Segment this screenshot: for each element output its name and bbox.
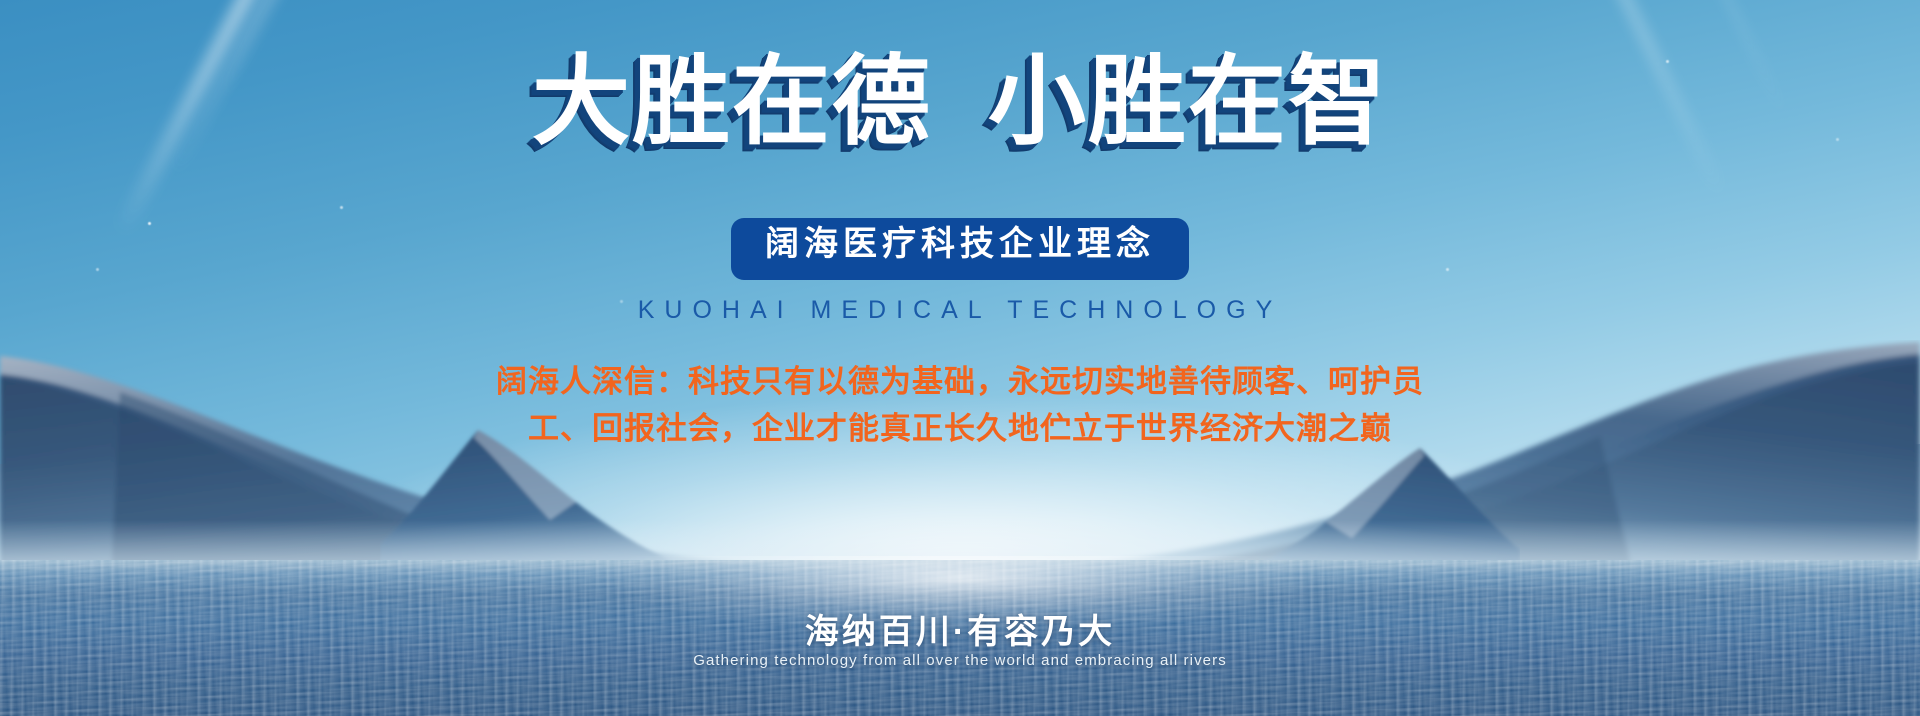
headline-part-1: 大胜在德 <box>532 46 932 156</box>
headline-part-2: 小胜在智 <box>988 46 1388 156</box>
banner-content: 大胜在德小胜在智 阔海医疗科技企业理念 KUOHAI MEDICAL TECHN… <box>0 0 1920 716</box>
hero-banner: 大胜在德小胜在智 阔海医疗科技企业理念 KUOHAI MEDICAL TECHN… <box>0 0 1920 716</box>
footer-chinese-motto: 海纳百川·有容乃大 <box>0 604 1920 653</box>
slogan-block: 阔海人深信：科技只有以德为基础，永远切实地善待顾客、呵护员 工、回报社会，企业才… <box>430 358 1490 452</box>
slogan-line-1: 阔海人深信：科技只有以德为基础，永远切实地善待顾客、呵护员 <box>430 358 1490 405</box>
english-subtitle: KUOHAI MEDICAL TECHNOLOGY <box>0 296 1920 325</box>
slogan-line-2: 工、回报社会，企业才能真正长久地伫立于世界经济大潮之巅 <box>430 405 1490 452</box>
footer-english-motto: Gathering technology from all over the w… <box>0 652 1920 669</box>
company-philosophy-badge: 阔海医疗科技企业理念 <box>731 218 1189 280</box>
badge-container: 阔海医疗科技企业理念 <box>0 218 1920 280</box>
headline: 大胜在德小胜在智 <box>0 52 1920 152</box>
